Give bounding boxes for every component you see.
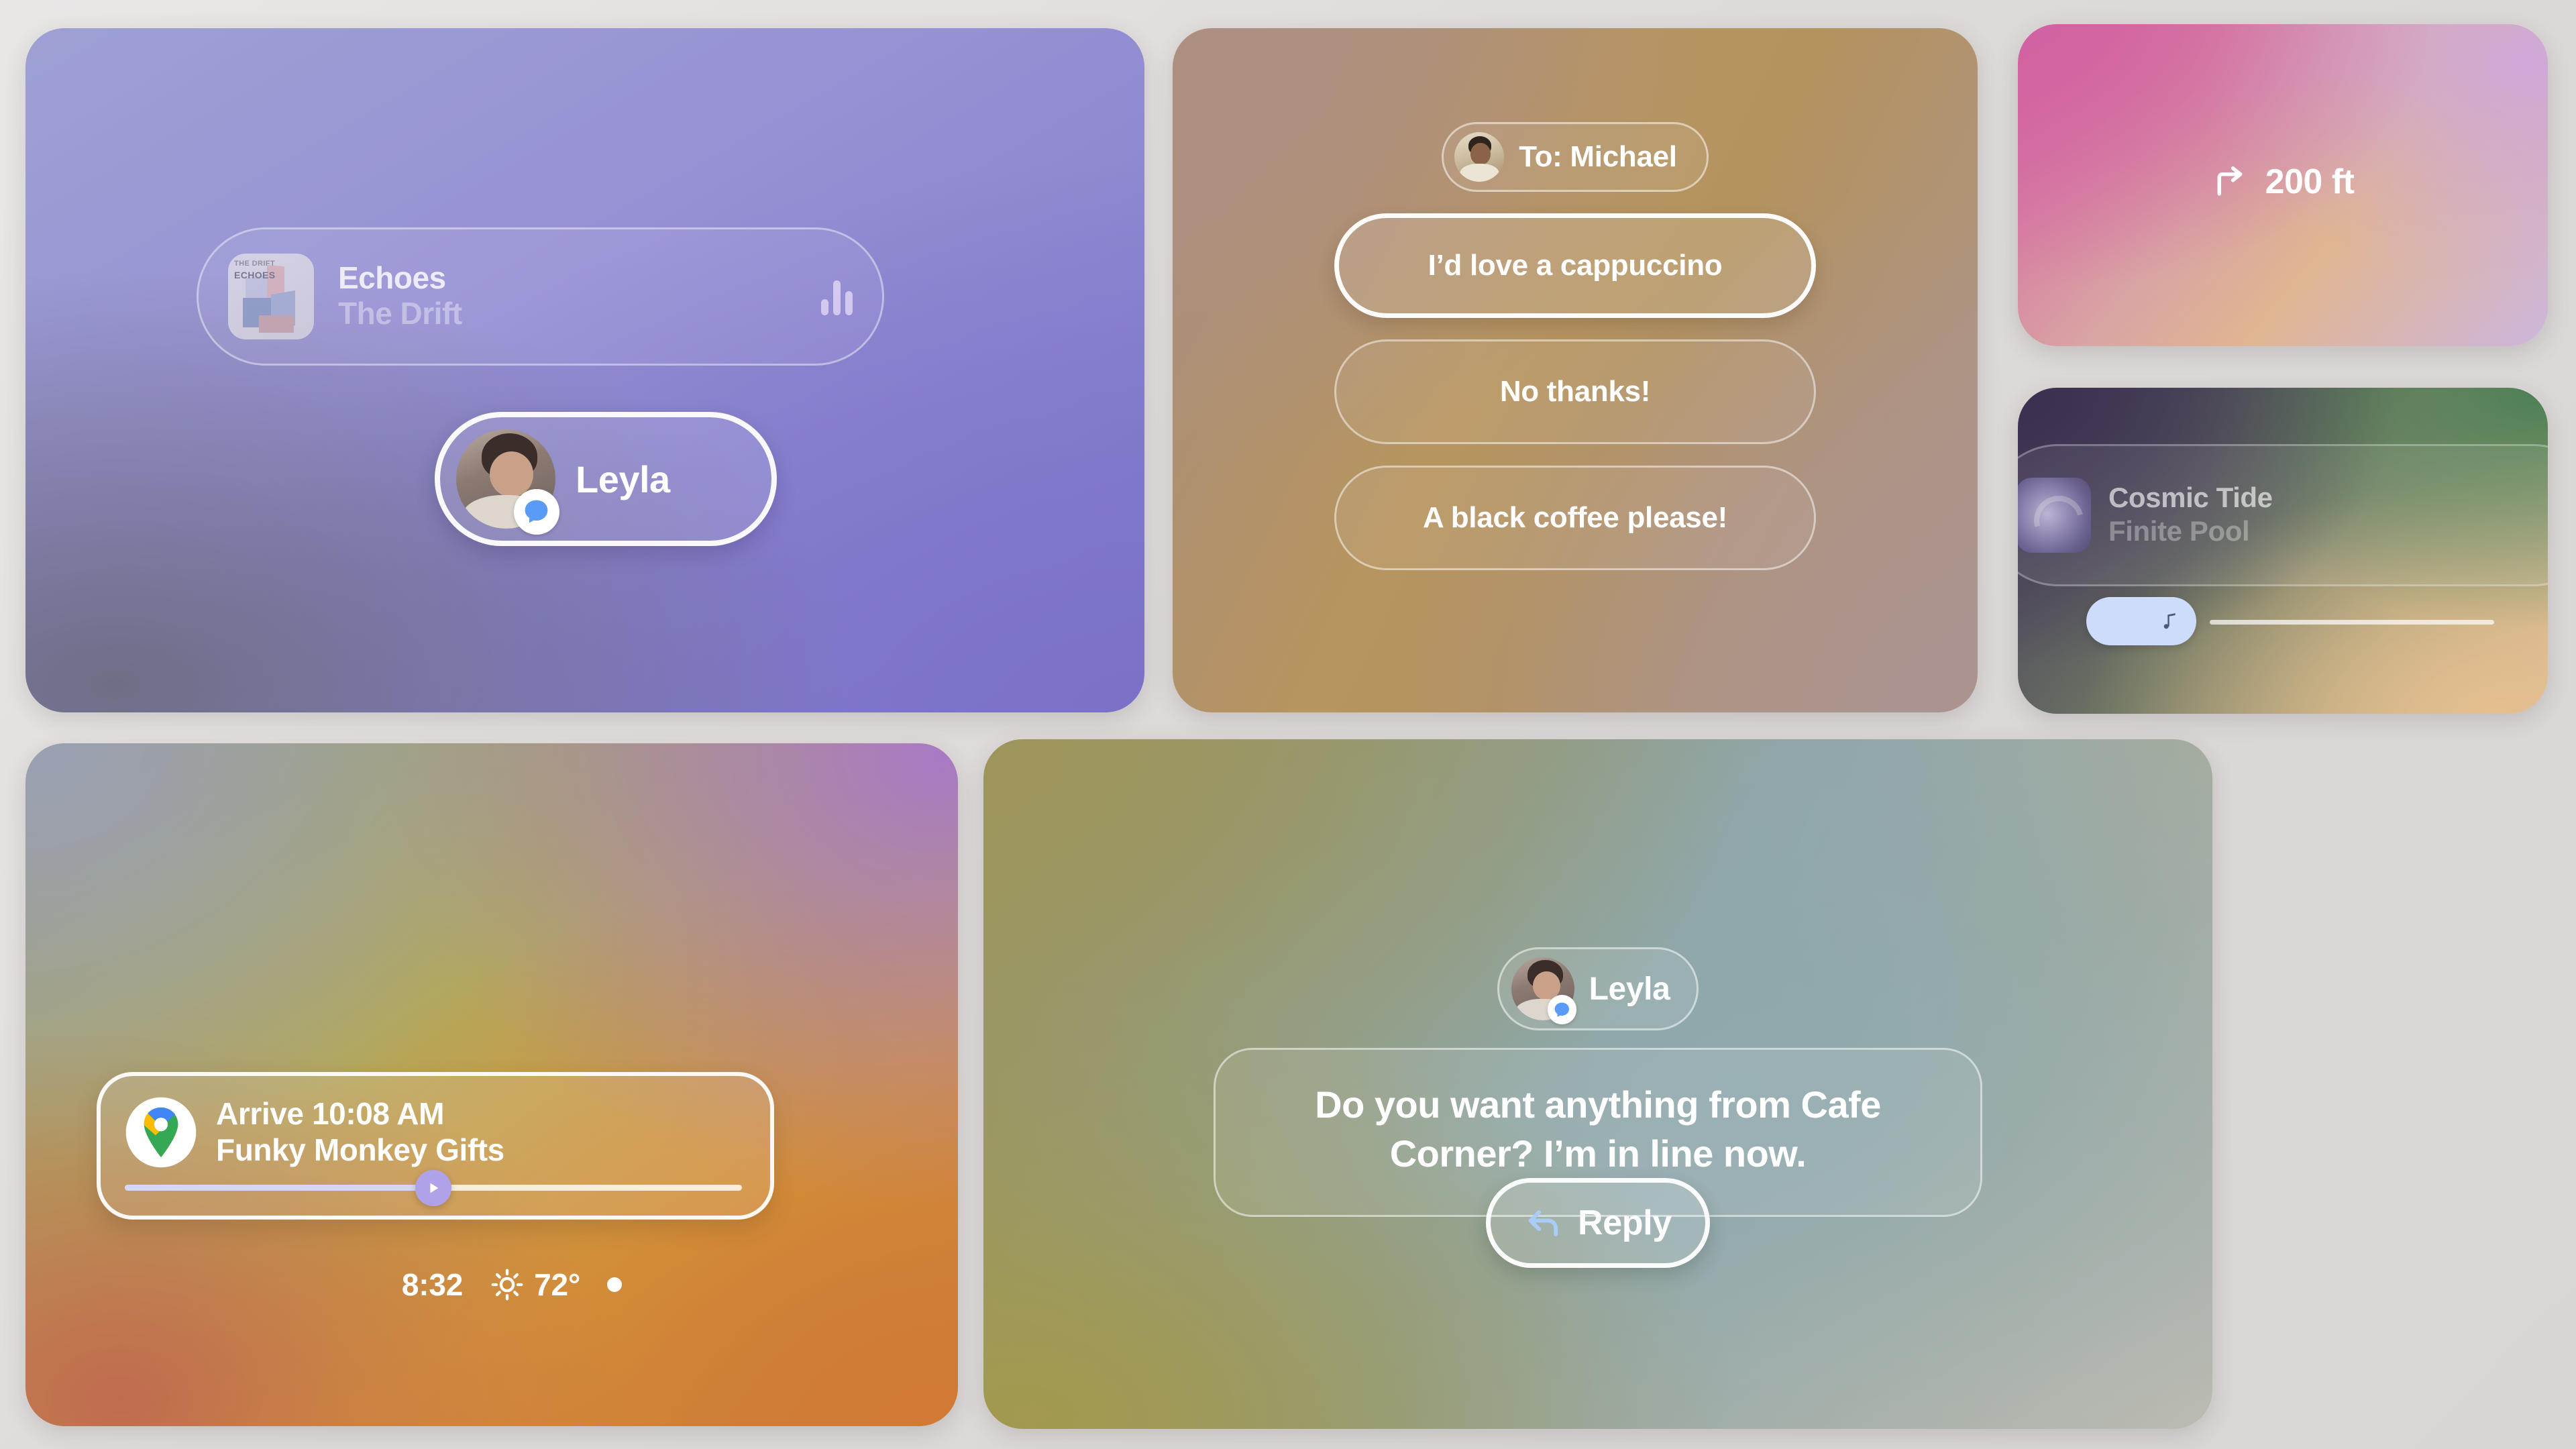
track-info: Echoes The Drift	[338, 262, 797, 331]
trip-status-row: 8:32 72°	[25, 1267, 958, 1303]
progress-knob[interactable]	[415, 1170, 451, 1206]
widget-stage: THE DRIFT ECHOES Echoes The Drift	[0, 0, 2576, 1449]
turn-right-icon	[2212, 164, 2248, 200]
distance-label: 200 ft	[2265, 162, 2355, 202]
navigation-distance-card[interactable]: 200 ft	[2018, 24, 2548, 346]
album-art-echoes: THE DRIFT ECHOES	[228, 254, 314, 339]
cosmic-seek-bar[interactable]	[2061, 619, 2530, 625]
trip-destination: Funky Monkey Gifts	[216, 1133, 504, 1168]
reply-arrow-icon	[1524, 1206, 1563, 1240]
reply-button[interactable]: Reply	[1486, 1178, 1710, 1268]
google-maps-pin-icon	[125, 1096, 197, 1169]
media-player-card[interactable]: THE DRIFT ECHOES Echoes The Drift	[25, 28, 1144, 712]
cosmic-track-title: Cosmic Tide	[2108, 483, 2532, 513]
sun-icon	[490, 1267, 525, 1302]
status-weather: 72°	[490, 1267, 580, 1303]
reply-button-label: Reply	[1578, 1203, 1672, 1243]
album-art-text: THE DRIFT ECHOES	[234, 259, 276, 282]
sender-chip[interactable]: Leyla	[1497, 947, 1699, 1030]
page-dot-icon	[607, 1277, 622, 1292]
play-triangle-icon	[426, 1180, 441, 1196]
trip-eta-panel[interactable]: Arrive 10:08 AM Funky Monkey Gifts	[97, 1072, 774, 1220]
reply-option-1[interactable]: No thanks!	[1334, 339, 1816, 444]
message-text: Do you want anything from Cafe Corner? I…	[1253, 1081, 1943, 1179]
sender-name: Leyla	[1589, 971, 1670, 1008]
incoming-message-card[interactable]: Leyla Do you want anything from Cafe Cor…	[983, 739, 2212, 1429]
trip-eta: Arrive 10:08 AM	[216, 1097, 504, 1131]
recipient-label: To: Michael	[1519, 140, 1676, 174]
music-note-icon	[2160, 608, 2183, 635]
trip-card[interactable]: Arrive 10:08 AM Funky Monkey Gifts 8:32	[25, 743, 958, 1426]
avatar-michael	[1454, 132, 1504, 182]
cosmic-player-card[interactable]: Cosmic Tide Finite Pool	[2018, 388, 2548, 714]
contact-chip-leyla[interactable]: Leyla	[435, 412, 777, 546]
seek-knob[interactable]	[2086, 597, 2196, 645]
status-temperature: 72°	[534, 1267, 580, 1303]
seek-track	[2210, 620, 2494, 625]
trip-progress-bar[interactable]	[125, 1183, 742, 1191]
cosmic-track-info: Cosmic Tide Finite Pool	[2108, 483, 2532, 547]
track-artist: The Drift	[338, 297, 797, 331]
reply-option-2[interactable]: A black coffee please!	[1334, 466, 1816, 570]
progress-elapsed	[125, 1185, 433, 1191]
track-title: Echoes	[338, 262, 797, 294]
avatar-leyla	[1511, 957, 1574, 1020]
now-playing-strip[interactable]: THE DRIFT ECHOES Echoes The Drift	[197, 227, 884, 366]
avatar-leyla	[456, 429, 555, 529]
album-art-spiral	[2018, 478, 2091, 553]
contact-name: Leyla	[576, 458, 670, 501]
messages-badge-icon	[514, 489, 559, 535]
cosmic-track-artist: Finite Pool	[2108, 515, 2532, 547]
equalizer-icon	[821, 278, 853, 315]
messages-badge-icon	[1548, 995, 1576, 1024]
status-time: 8:32	[402, 1267, 463, 1303]
reply-option-0[interactable]: I’d love a cappuccino	[1334, 213, 1816, 318]
cosmic-now-playing-strip[interactable]: Cosmic Tide Finite Pool	[2018, 444, 2548, 586]
quick-replies-card[interactable]: To: Michael I’d love a cappuccino No tha…	[1173, 28, 1978, 712]
recipient-chip[interactable]: To: Michael	[1442, 122, 1708, 192]
